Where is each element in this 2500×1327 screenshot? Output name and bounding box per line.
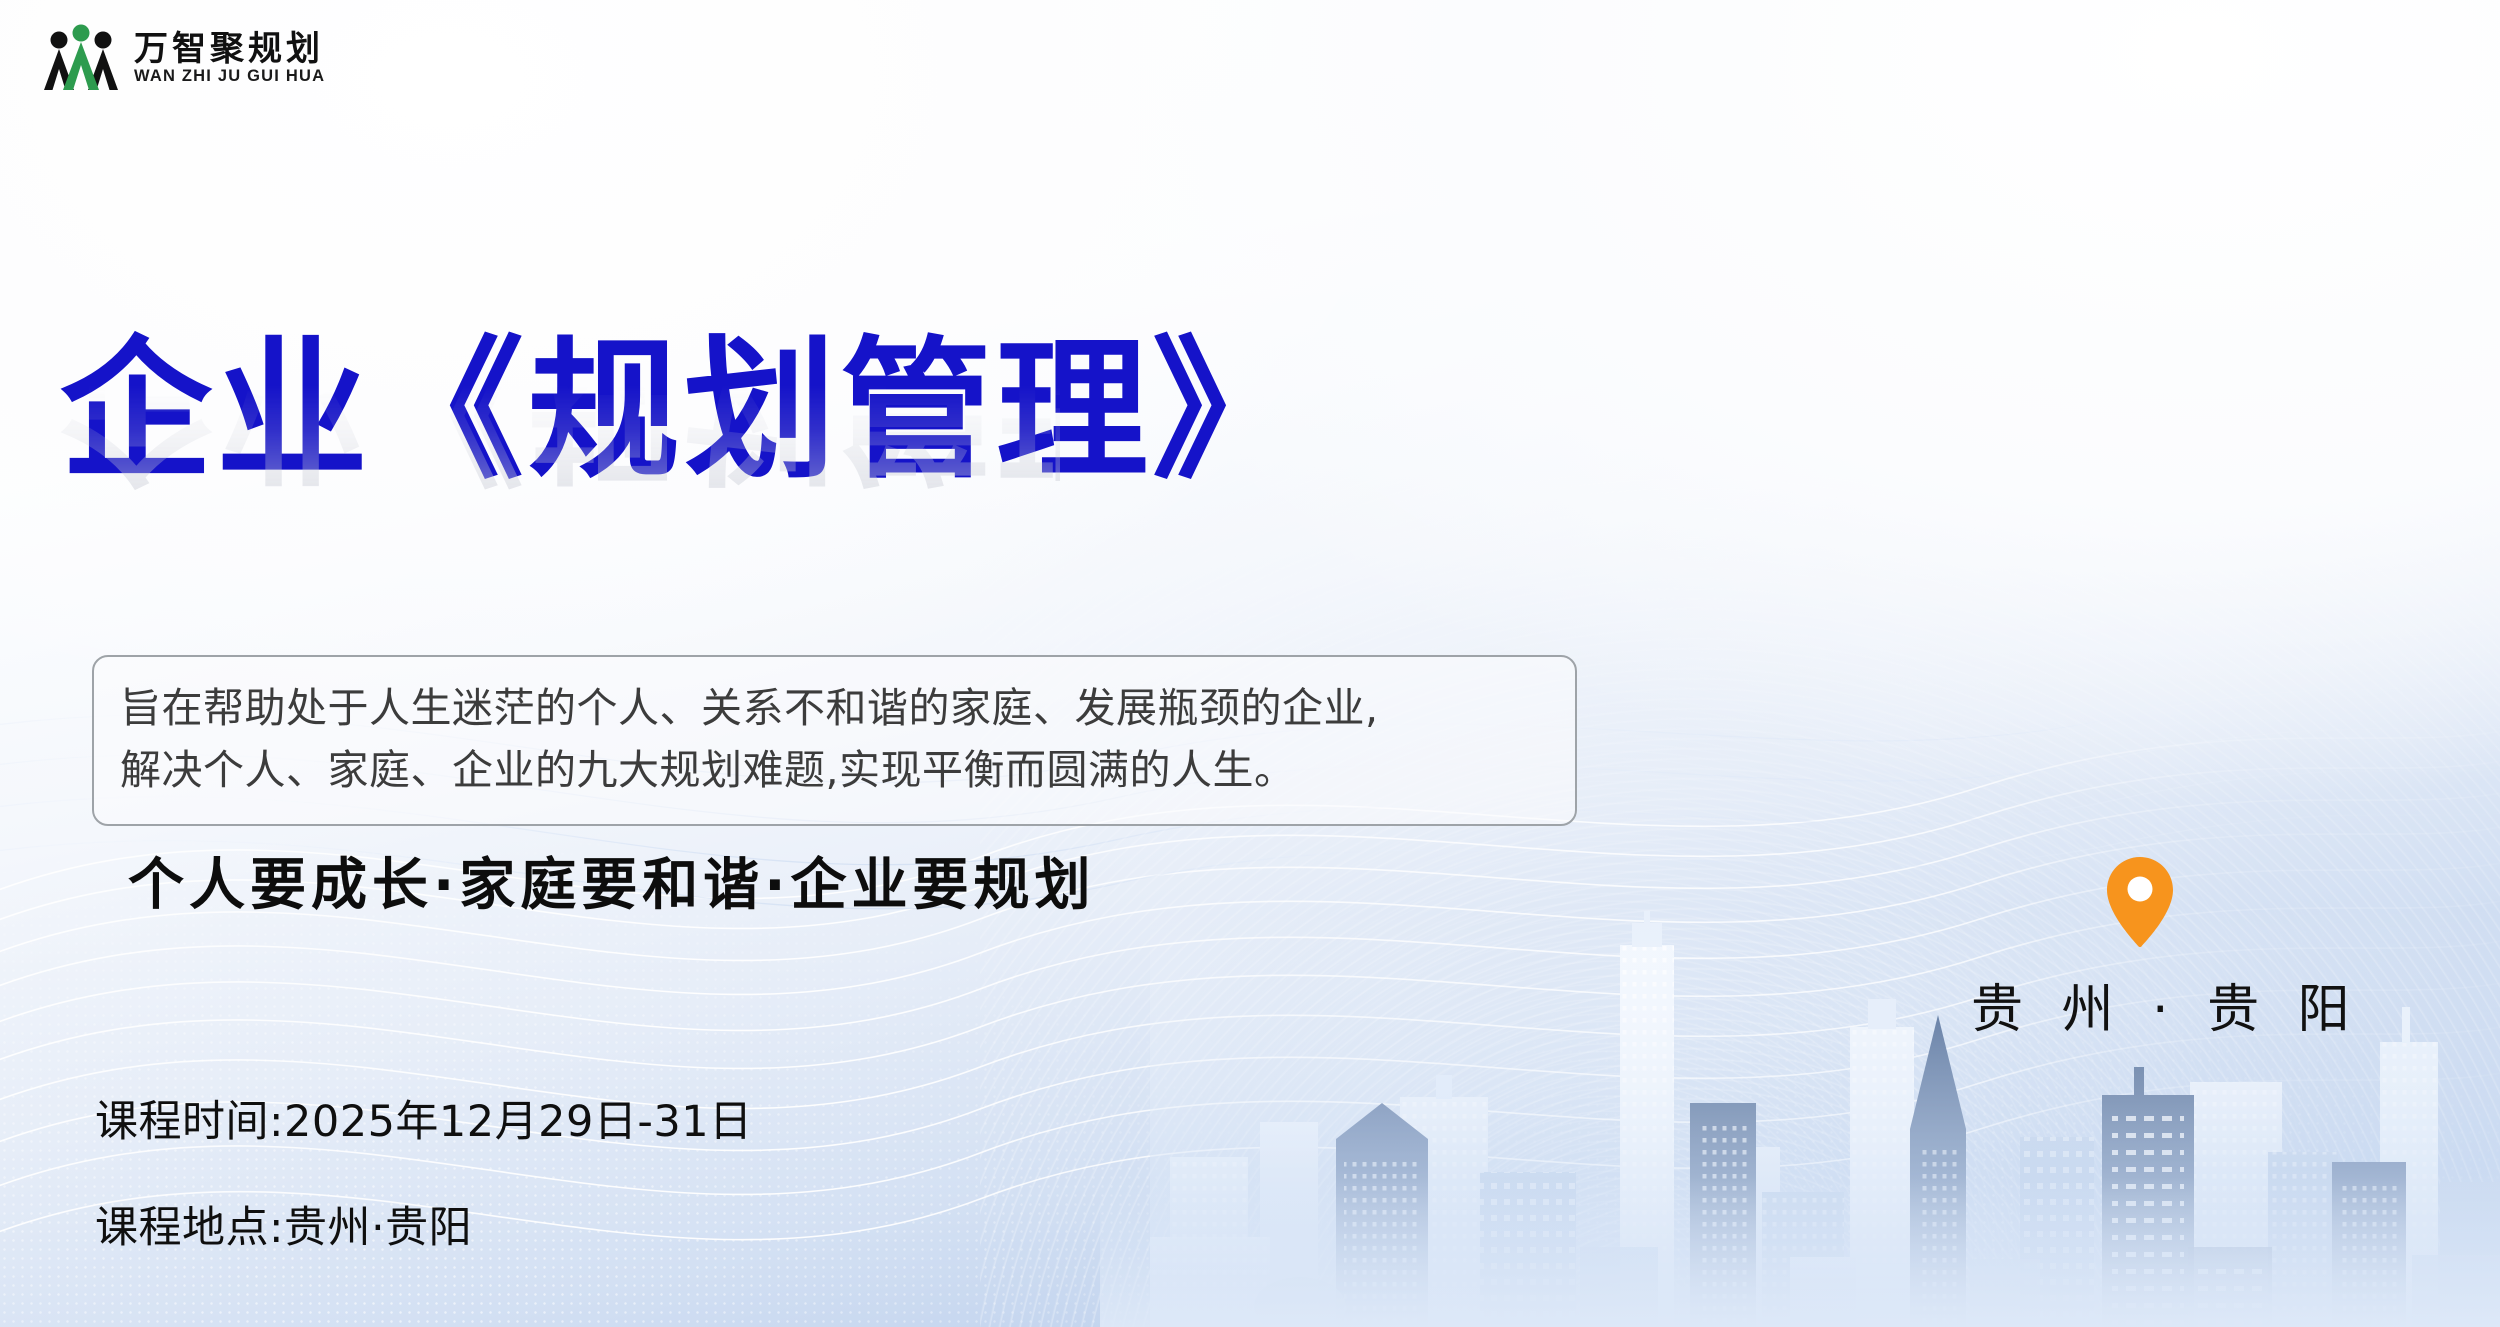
page-title-reflection: 企业《规划管理》 (60, 330, 1060, 491)
slogan-text: 个人要成长·家庭要和谐·企业要规划 (128, 840, 1096, 921)
brand-logo[interactable]: 万智聚规划 WAN ZHI JU GUI HUA (42, 22, 325, 94)
course-location-value: 贵州·贵阳 (284, 1193, 472, 1255)
map-pin-icon (2104, 855, 2176, 949)
course-location-label: 课程地点: (95, 1193, 284, 1255)
course-time-value: 2025年12月29日-31日 (284, 1087, 753, 1149)
description-line-1: 旨在帮助处于人生迷茫的个人、关系不和谐的家庭、发展瓶颈的企业, (120, 677, 1549, 739)
brand-logo-text: 万智聚规划 WAN ZHI JU GUI HUA (134, 32, 325, 85)
hero-title-block: 企业《规划管理》 企业《规划管理》 (60, 330, 1060, 652)
brand-name-pinyin: WAN ZHI JU GUI HUA (134, 68, 325, 85)
location-label: 贵 州 · 贵 阳 (1960, 967, 2320, 1042)
course-time-label: 课程时间: (95, 1087, 284, 1149)
promo-banner: 万智聚规划 WAN ZHI JU GUI HUA 企业《规划管理》 企业《规划管… (0, 0, 2500, 1327)
course-info: 课程时间: 2025年12月29日-31日 课程地点: 贵州·贵阳 (95, 1087, 753, 1255)
description-box: 旨在帮助处于人生迷茫的个人、关系不和谐的家庭、发展瓶颈的企业, 解决个人、家庭、… (92, 655, 1577, 826)
bottom-haze (1100, 1177, 2500, 1327)
location-badge: 贵 州 · 贵 阳 (1960, 855, 2320, 1042)
description-line-2: 解决个人、家庭、企业的九大规划难题,实现平衡而圆满的人生。 (120, 739, 1549, 801)
course-location-row: 课程地点: 贵州·贵阳 (95, 1193, 753, 1255)
course-time-row: 课程时间: 2025年12月29日-31日 (95, 1087, 753, 1149)
brand-name-cn: 万智聚规划 (134, 32, 325, 66)
three-people-logo-icon (42, 22, 120, 94)
